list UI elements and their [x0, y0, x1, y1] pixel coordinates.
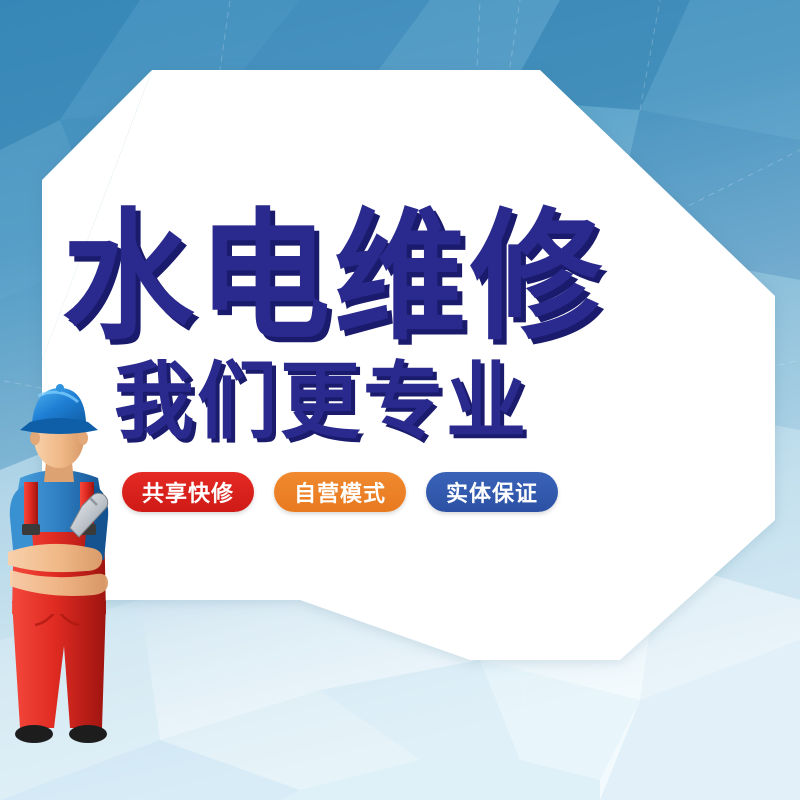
page-subtitle: 我们更专业: [114, 360, 529, 444]
badge-physical-guarantee: 实体保证: [426, 472, 558, 512]
badge-self-operated-mode: 自营模式: [274, 472, 406, 512]
repair-worker-illustration: [0, 366, 124, 786]
page-title: 水电维修: [62, 207, 606, 348]
banner-content: 水电维修 我们更专业 共享快修 自营模式 实体保证: [0, 0, 800, 800]
feature-badge-list: 共享快修 自营模式 实体保证: [122, 472, 558, 512]
badge-shared-quick-repair: 共享快修: [122, 472, 254, 512]
promo-banner: 水电维修 我们更专业 共享快修 自营模式 实体保证: [0, 0, 800, 800]
